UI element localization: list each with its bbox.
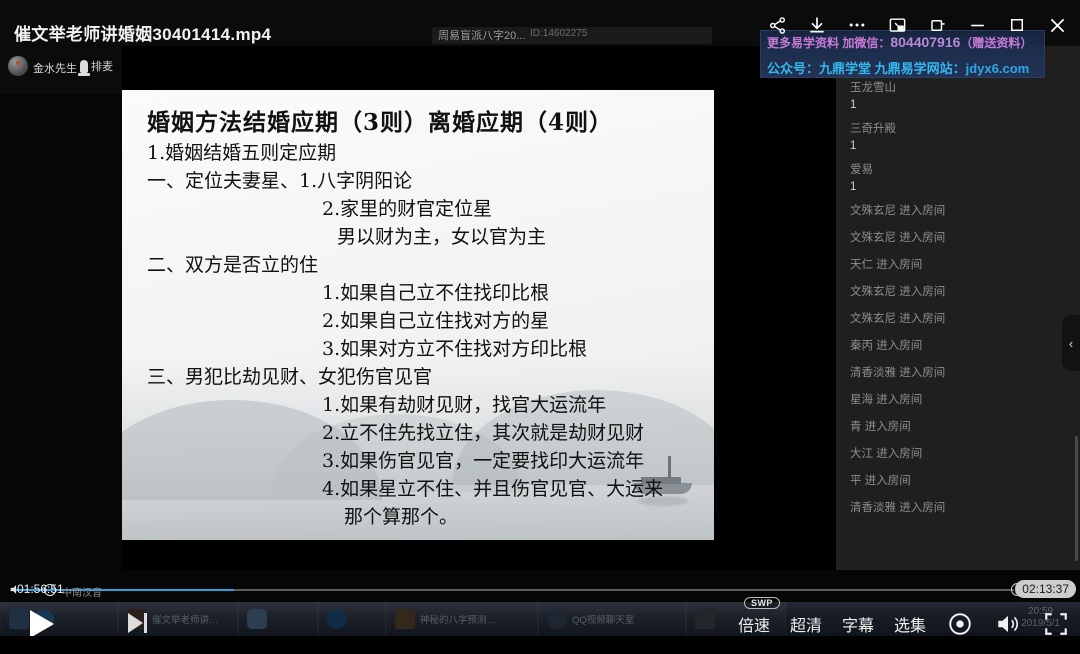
chat-message: 爱易1 [850,162,1066,196]
group-id: ID:14602275 [530,28,587,39]
chat-scrollbar[interactable] [1075,436,1078,561]
host-row: 金水先生 排麦 [0,46,122,94]
share-icon[interactable] [762,10,792,40]
episodes-button[interactable]: 选集 [894,612,926,636]
pip-icon[interactable] [882,10,912,40]
chat-message-body: 1 [850,138,1066,155]
queue-mic-label: 排麦 [91,58,113,74]
slide-line: 2.家里的财官定位星 [322,194,492,221]
slide-line: 2.如果自己立住找对方的星 [322,306,549,333]
host-name: 金水先生 [33,60,77,76]
slide-line: 1.如果有劫财见财，找官大运流年 [322,390,606,417]
promo-site: jdyx6.com [966,61,1030,76]
chat-system-message: 秦丙 进入房间 [850,338,1066,355]
slide-line: 3.如果对方立不住找对方印比根 [322,334,587,361]
fullscreen-icon[interactable] [1042,610,1070,638]
chat-system-message: 大江 进入房间 [850,446,1066,463]
slide-line: 男以财为主，女以官为主 [337,222,546,249]
slide-line: 二、双方是否立的住 [147,250,318,277]
minimize-icon[interactable] [962,10,992,40]
chat-panel[interactable]: 有、听到玉龙雪山1三奇升殿1爱易1文殊玄尼 进入房间文殊玄尼 进入房间天仁 进入… [836,46,1080,570]
chat-system-message: 星海 进入房间 [850,392,1066,409]
maximize-icon[interactable] [1002,10,1032,40]
play-button[interactable] [30,610,54,638]
chat-system-message: 文殊玄尼 进入房间 [850,230,1066,247]
window-controls [762,8,1072,42]
quality-button[interactable]: 超清 [790,612,822,636]
collapse-sidebar-button[interactable]: ‹ [1062,315,1080,371]
progress-handle[interactable] [44,584,56,596]
next-episode-button[interactable] [128,613,150,633]
record-icon[interactable] [946,610,974,638]
next-icon [128,613,143,633]
slide-canvas: 婚姻方法结婚应期（3则）离婚应期（4则） 1.婚姻结婚五则定应期 一、定位夫妻星… [122,90,714,540]
slide-line: 1.婚姻结婚五则定应期 [147,138,336,165]
microphone-icon [80,60,88,73]
chat-message: 三奇升殿1 [850,121,1066,155]
chat-message-list: 有、听到玉龙雪山1三奇升殿1爱易1文殊玄尼 进入房间文殊玄尼 进入房间天仁 进入… [836,46,1080,527]
avatar [8,56,28,76]
promo-line2-prefix: 公众号：九鼎学堂 九鼎易学网站： [767,61,966,76]
snapshot-icon[interactable] [922,10,952,40]
speed-button[interactable]: SWP 倍速 [738,612,770,636]
page-title: 催文举老师讲婚姻30401414.mp4 [14,20,271,45]
chat-message: 玉龙雪山1 [850,80,1066,114]
slide-line: 一、定位夫妻星、1.八字阴阳论 [147,166,412,193]
current-time-label: 01:56:51 [17,582,64,596]
close-icon[interactable] [1042,10,1072,40]
chevron-left-icon: ‹ [1069,336,1073,351]
slide-line: 4.如果星立不住、并且伤官见官、大运来 [322,474,663,501]
slide-line: 三、男犯比劫见财、女犯伤官见官 [147,362,432,389]
chat-system-message: 文殊玄尼 进入房间 [850,284,1066,301]
speed-label: 倍速 [738,618,770,635]
queue-mic-button[interactable]: 排麦 [80,58,113,74]
video-stage[interactable]: 婚姻方法结婚应期（3则）离婚应期（4则） 1.婚姻结婚五则定应期 一、定位夫妻星… [122,46,836,570]
chat-system-message: 清香淡雅 进入房间 [850,365,1066,382]
more-icon[interactable] [842,10,872,40]
slide-line: 1.如果自己立不住找印比根 [322,278,549,305]
chat-message-body: 1 [850,179,1066,196]
chat-message-body: 1 [850,97,1066,114]
stream-label: 中南汉音 [62,584,102,599]
chat-system-message: 文殊玄尼 进入房间 [850,311,1066,328]
slide-title: 婚姻方法结婚应期（3则）离婚应期（4则） [147,103,613,137]
promo-line-2: 公众号：九鼎学堂 九鼎易学网站：jdyx6.com [767,58,1029,77]
bottom-filler [0,636,1080,654]
chat-message-author: 三奇升殿 [850,121,1066,138]
subtitle-button[interactable]: 字幕 [842,612,874,636]
video-player-window: 催文举老师讲婚姻30401414.mp4 周易盲派八字20... ID:1460… [0,0,1080,654]
slide-line: 2.立不住先找立住，其次就是劫财见财 [322,418,644,445]
letterbox-top [122,46,836,90]
slide-text-block: 婚姻方法结婚应期（3则）离婚应期（4则） 1.婚姻结婚五则定应期 一、定位夫妻星… [122,90,714,540]
volume-icon[interactable] [994,610,1022,638]
chat-system-message: 清香淡雅 进入房间 [850,500,1066,517]
chat-message-author: 爱易 [850,162,1066,179]
chat-system-message: 平 进入房间 [850,473,1066,490]
chat-system-message: 文殊玄尼 进入房间 [850,203,1066,220]
progress-bar-row: 01:56:51 中南汉音 02:13:37 [0,578,1080,602]
progress-track[interactable] [14,589,1014,591]
slide-line: 那个算那个。 [344,502,458,529]
chat-system-message: 青 进入房间 [850,419,1066,436]
download-icon[interactable] [802,10,832,40]
slide-line: 3.如果伤官见官，一定要找印大运流年 [322,446,644,473]
group-name: 周易盲派八字20... [438,27,525,43]
letterbox-bottom [122,540,836,570]
total-time-label: 02:13:37 [1015,580,1076,598]
chat-system-message: 天仁 进入房间 [850,257,1066,274]
chat-message-author: 玉龙雪山 [850,80,1066,97]
